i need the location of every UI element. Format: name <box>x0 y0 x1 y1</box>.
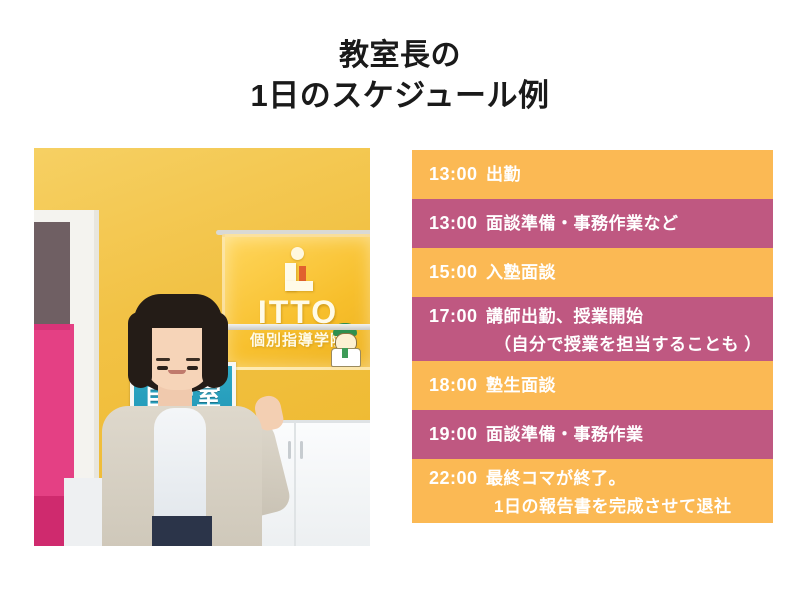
person-mouth <box>168 370 186 374</box>
schedule-row: 15:00入塾面談 <box>412 248 773 297</box>
schedule-row-lines: 入塾面談 <box>486 248 773 297</box>
schedule-row-lines: 最終コマが終了。1日の報告書を完成させて退社 <box>486 459 773 521</box>
schedule-row-time: 19:00 <box>412 410 486 459</box>
schedule-row-text: 1日の報告書を完成させて退社 <box>486 493 773 521</box>
schedule-row-text: 出勤 <box>486 150 773 199</box>
person-skirt <box>152 516 212 546</box>
schedule-row: 17:00講師出勤、授業開始（自分で授業を担当することも ） <box>412 297 773 361</box>
itto-logo-icon <box>277 247 317 291</box>
schedule-row-time: 15:00 <box>412 248 486 297</box>
schedule-row-text: 面談準備・事務作業など <box>486 199 773 248</box>
schedule-row-text: （自分で授業を担当することも ） <box>486 331 773 359</box>
schedule-row-text: 最終コマが終了。 <box>486 465 773 493</box>
person-fringe <box>134 294 222 328</box>
photo-person <box>80 288 290 546</box>
schedule-row-time: 18:00 <box>412 361 486 410</box>
schedule-row-lines: 出勤 <box>486 150 773 199</box>
schedule-row-text: 塾生面談 <box>486 361 773 410</box>
schedule-row-lines: 面談準備・事務作業など <box>486 199 773 248</box>
page-title: 教室長の 1日のスケジュール例 <box>0 36 800 116</box>
schedule-row: 22:00最終コマが終了。1日の報告書を完成させて退社 <box>412 459 773 523</box>
schedule-row: 18:00塾生面談 <box>412 361 773 410</box>
photo-pink-wall <box>34 324 74 496</box>
person-blouse <box>154 408 206 528</box>
classroom-manager-photo: ITTO 個別指導学院 自分でできる自習室 自習室 無料開放中 テスト前や <box>34 148 370 546</box>
schedule-row-text: 講師出勤、授業開始 <box>486 303 773 331</box>
schedule-row-time: 22:00 <box>412 459 486 497</box>
schedule-row-lines: 講師出勤、授業開始（自分で授業を担当することも ） <box>486 297 773 359</box>
schedule-row-lines: 塾生面談 <box>486 361 773 410</box>
schedule-table: 13:00出勤13:00面談準備・事務作業など15:00入塾面談17:00講師出… <box>412 150 773 523</box>
schedule-row: 13:00面談準備・事務作業など <box>412 199 773 248</box>
schedule-row-lines: 面談準備・事務作業 <box>486 410 773 459</box>
photo-door-opening <box>34 222 70 330</box>
page-title-line-1: 教室長の <box>0 36 800 76</box>
schedule-row-time: 17:00 <box>412 297 486 335</box>
schedule-row: 13:00出勤 <box>412 150 773 199</box>
page-title-line-2: 1日のスケジュール例 <box>0 76 800 116</box>
schedule-row-text: 面談準備・事務作業 <box>486 410 773 459</box>
schedule-row-text: 入塾面談 <box>486 248 773 297</box>
schedule-row-time: 13:00 <box>412 199 486 248</box>
schedule-row: 19:00面談準備・事務作業 <box>412 410 773 459</box>
schedule-row-time: 13:00 <box>412 150 486 199</box>
photo-pink-wall-lower <box>34 496 68 546</box>
